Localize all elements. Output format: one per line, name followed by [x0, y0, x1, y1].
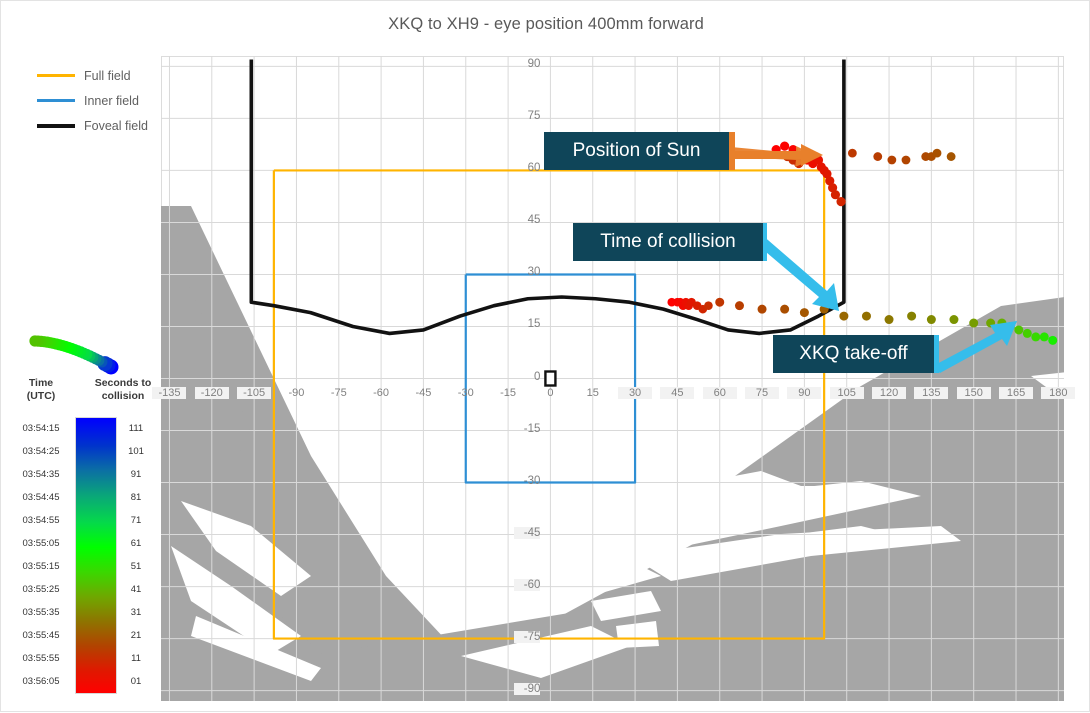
data-point-offaxis: [66, 343, 77, 354]
data-point-offaxis: [29, 335, 40, 346]
data-point-offaxis: [45, 337, 56, 348]
y-tick-label: 90: [514, 58, 540, 70]
data-point: [1040, 332, 1049, 341]
x-tick-label: -105: [237, 387, 271, 399]
x-tick-label: 165: [999, 387, 1033, 399]
data-point: [947, 152, 956, 161]
data-point: [1006, 322, 1015, 331]
data-point-offaxis: [69, 344, 80, 355]
x-tick-label: 105: [830, 387, 864, 399]
x-tick-label: 60: [703, 387, 737, 399]
x-tick-label: -120: [195, 387, 229, 399]
scale-tick-time: 03:54:25: [11, 446, 71, 457]
chart-page: XKQ to XH9 - eye position 400mm forward …: [0, 0, 1090, 712]
y-tick-label: -45: [514, 527, 540, 539]
scale-tick-seconds: 51: [119, 561, 153, 572]
scale-tick-time: 03:55:55: [11, 653, 71, 664]
scale-tick-seconds: 61: [119, 538, 153, 549]
y-tick-label: -15: [514, 423, 540, 435]
y-tick-label: -30: [514, 475, 540, 487]
scale-tick-time: 03:56:05: [11, 676, 71, 687]
x-tick-label: 15: [576, 387, 610, 399]
scale-tick-seconds: 01: [119, 676, 153, 687]
data-point: [907, 312, 916, 321]
data-point: [873, 152, 882, 161]
data-point: [780, 142, 789, 151]
data-point: [1031, 332, 1040, 341]
x-tick-label: -30: [449, 387, 483, 399]
data-point: [1014, 325, 1023, 334]
data-point-offaxis: [90, 353, 101, 364]
scale-tick-time: 03:54:45: [11, 492, 71, 503]
data-point: [1023, 329, 1032, 338]
annotation-time-of-collision[interactable]: Time of collision: [573, 223, 763, 261]
data-point-offaxis: [84, 350, 95, 361]
scale-tick-seconds: 71: [119, 515, 153, 526]
scale-tick-time: 03:55:15: [11, 561, 71, 572]
x-tick-label: 150: [957, 387, 991, 399]
data-point: [780, 305, 789, 314]
scale-tick-seconds: 101: [119, 446, 153, 457]
data-point: [836, 197, 845, 206]
data-point-offaxis: [75, 346, 86, 357]
data-point-offaxis: [60, 341, 71, 352]
data-point-offaxis: [93, 355, 104, 366]
x-tick-label: -75: [322, 387, 356, 399]
legend-label-full-field: Full field: [84, 69, 131, 83]
data-point-offaxis: [39, 336, 50, 347]
scale-legend-time-header-line2: (UTC): [11, 390, 71, 403]
data-point-offaxis: [97, 356, 112, 371]
scale-tick-seconds: 21: [119, 630, 153, 641]
data-point-offaxis: [72, 345, 83, 356]
data-point-offaxis: [48, 338, 59, 349]
data-point: [933, 149, 942, 158]
color-scale-legend: Time (UTC) Seconds to collision 03:54:15…: [7, 377, 159, 707]
scale-legend-time-header-line1: Time: [11, 377, 71, 390]
data-point: [772, 145, 781, 154]
data-point: [839, 312, 848, 321]
data-point: [949, 315, 958, 324]
x-tick-label: -60: [364, 387, 398, 399]
data-point-offaxis: [35, 336, 46, 347]
data-point-offaxis: [54, 339, 65, 350]
scale-tick-seconds: 31: [119, 607, 153, 618]
x-tick-label: -90: [279, 387, 313, 399]
scale-tick-time: 03:55:25: [11, 584, 71, 595]
y-tick-label: 15: [514, 318, 540, 330]
y-tick-label: -90: [514, 683, 540, 695]
annotation-xkq-take-off[interactable]: XKQ take-off: [773, 335, 934, 373]
data-point-offaxis: [57, 340, 68, 351]
data-point: [820, 305, 829, 314]
data-point-offaxis: [63, 342, 74, 353]
scale-tick-seconds: 111: [119, 423, 153, 434]
scale-tick-time: 03:55:45: [11, 630, 71, 641]
y-tick-label: 75: [514, 110, 540, 122]
legend-swatch-foveal-field: [37, 124, 75, 128]
x-tick-label: 45: [660, 387, 694, 399]
x-tick-label: 0: [533, 387, 567, 399]
data-point-offaxis: [78, 348, 89, 359]
scale-legend-seconds-header-line2: collision: [87, 390, 159, 403]
data-point: [1048, 336, 1057, 345]
y-tick-label: -60: [514, 579, 540, 591]
legend-swatch-inner-field: [37, 99, 75, 102]
legend-swatch-full-field: [37, 74, 75, 77]
data-point-offaxis: [87, 352, 98, 363]
data-point: [862, 312, 871, 321]
scale-legend-seconds-header: Seconds to collision: [87, 377, 159, 403]
scale-tick-seconds: 11: [119, 653, 153, 664]
y-tick-label: -75: [514, 631, 540, 643]
origin-marker: [545, 372, 555, 386]
data-point-offaxis: [81, 349, 92, 360]
data-point: [885, 315, 894, 324]
data-point: [848, 149, 857, 158]
scale-legend-seconds-header-line1: Seconds to: [87, 377, 159, 390]
data-point: [997, 319, 1006, 328]
color-gradient-bar: [75, 417, 117, 694]
annotation-position-of-sun[interactable]: Position of Sun: [544, 132, 729, 170]
data-point: [969, 319, 978, 328]
scale-tick-time: 03:54:15: [11, 423, 71, 434]
x-tick-label: 135: [914, 387, 948, 399]
data-point-offaxis: [100, 358, 115, 373]
y-tick-label: 30: [514, 266, 540, 278]
data-point: [887, 156, 896, 165]
data-point: [704, 301, 713, 310]
data-point: [758, 305, 767, 314]
data-point-offaxis: [51, 338, 62, 349]
scale-tick-seconds: 91: [119, 469, 153, 480]
scale-tick-time: 03:54:35: [11, 469, 71, 480]
data-point: [986, 319, 995, 328]
x-tick-label: 90: [787, 387, 821, 399]
scale-tick-time: 03:55:05: [11, 538, 71, 549]
data-point-offaxis: [32, 336, 43, 347]
scale-tick-time: 03:54:55: [11, 515, 71, 526]
x-tick-label: 30: [618, 387, 652, 399]
data-point: [927, 315, 936, 324]
data-point-offaxis: [104, 360, 119, 375]
data-point-offaxis: [96, 356, 107, 367]
data-point: [783, 152, 792, 161]
x-tick-label: -135: [152, 387, 186, 399]
x-tick-label: 75: [745, 387, 779, 399]
x-tick-label: 180: [1041, 387, 1075, 399]
scale-tick-time: 03:55:35: [11, 607, 71, 618]
foveal-field-boundary: [251, 59, 844, 333]
legend-label-inner-field: Inner field: [84, 94, 139, 108]
data-point-offaxis: [42, 337, 53, 348]
y-tick-label: 0: [514, 371, 540, 383]
page-title: XKQ to XH9 - eye position 400mm forward: [1, 15, 1090, 34]
y-tick-label: 45: [514, 214, 540, 226]
scale-legend-time-header: Time (UTC): [11, 377, 71, 403]
data-point: [800, 308, 809, 317]
data-point: [715, 298, 724, 307]
legend-label-foveal-field: Foveal field: [84, 119, 148, 133]
y-tick-label: 60: [514, 162, 540, 174]
x-tick-label: 120: [872, 387, 906, 399]
data-point: [902, 156, 911, 165]
scale-tick-seconds: 81: [119, 492, 153, 503]
x-tick-label: -15: [491, 387, 525, 399]
data-point: [735, 301, 744, 310]
scale-tick-seconds: 41: [119, 584, 153, 595]
x-tick-label: -45: [406, 387, 440, 399]
